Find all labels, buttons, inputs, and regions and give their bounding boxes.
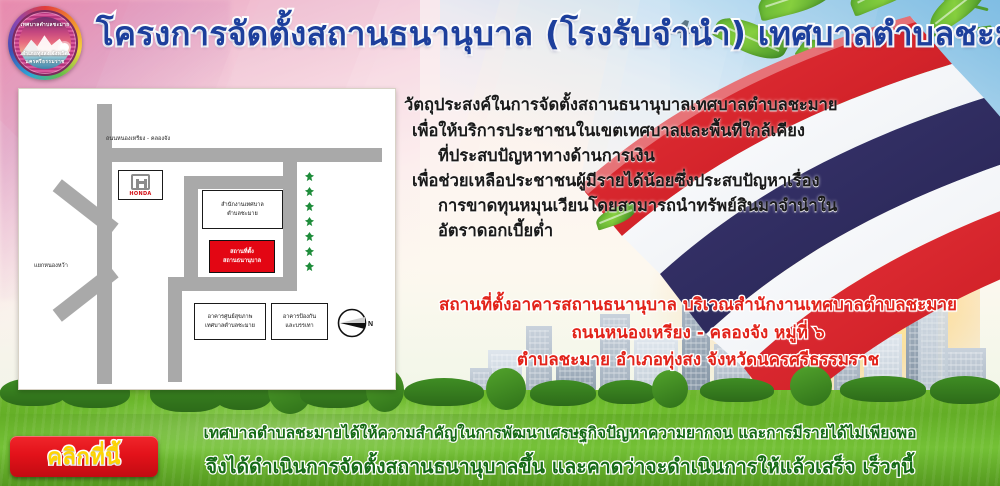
location-map-panel: ถนนหนองเหรียง - คลองจัง แยกหนองหว้า HOND… xyxy=(18,88,396,390)
objective-item-1-line2: ที่ประสบปัญหาทางด้านการเงิน xyxy=(404,143,874,168)
tree-icon xyxy=(304,217,315,228)
road-name-label: ถนนหนองเหรียง - คลองจัง xyxy=(106,135,170,143)
click-here-label: คลิกที่นี้ xyxy=(47,439,121,474)
emblem-text-top: เทศบาลตำบลชะมาย xyxy=(14,21,76,29)
tree-icon xyxy=(304,232,315,243)
bush xyxy=(530,380,596,406)
map-box-line1: สถานที่ตั้ง xyxy=(230,248,254,256)
compass-north-label: N xyxy=(368,321,373,328)
bush xyxy=(404,378,484,406)
objective-item-2-line2: การขาดทุนหมุนเวียนโดยสามารถนำทรัพย์สินมา… xyxy=(404,193,874,218)
junction-label: แยกหนองหว้า xyxy=(34,262,68,270)
click-here-button[interactable]: คลิกที่นี้ xyxy=(10,436,158,477)
map-box-line2: และบรรเทา xyxy=(285,322,313,330)
road-vertical-main xyxy=(97,104,112,384)
honda-dealership-box: HONDA xyxy=(118,170,163,200)
objective-item-1-line1: เพื่อให้บริการประชาชนในเขตเทศบาลและพื้นท… xyxy=(404,118,874,143)
objective-item-2-line1: เพื่อช่วยเหลือประชาชนผู้มีรายได้น้อยซึ่ง… xyxy=(404,168,874,193)
municipality-seal-emblem: เทศบาลตำบลชะมาย อำเภอทุ่งสง จังหวัดนครศร… xyxy=(8,6,82,80)
objectives-block: วัตถุประสงค์ในการจัดตั้งสถานธนานุบาลเทศบ… xyxy=(404,92,874,243)
map-box-line1: อาคารป้องกัน xyxy=(283,313,316,321)
header-bar: เทศบาลตำบลชะมาย อำเภอทุ่งสง จังหวัดนครศร… xyxy=(0,0,1000,84)
map-box-line2: สถานธนานุบาล xyxy=(223,257,261,265)
road-vertical-lower xyxy=(168,277,182,382)
honda-brand-label: HONDA xyxy=(129,191,151,197)
map-box-line2: เทศบาลตำบลชะมาย xyxy=(205,322,255,330)
road-horizontal-inner xyxy=(184,176,284,189)
map-box-line1: สำนักงานเทศบาล xyxy=(221,201,264,209)
tree-icon xyxy=(304,187,315,198)
honda-logo-icon xyxy=(131,174,150,190)
map-box-municipal-office: สำนักงานเทศบาล ตำบลชะมาย xyxy=(202,190,283,229)
tree-icon xyxy=(304,262,315,273)
tree xyxy=(652,370,688,408)
tree-icon xyxy=(304,172,315,183)
bush xyxy=(840,376,926,402)
objective-item-2-line3: อัตราดอกเบี้ยต่ำ xyxy=(404,218,874,243)
road-horizontal-mid xyxy=(168,277,297,291)
map-box-disaster-building: อาคารป้องกัน และบรรเทา xyxy=(271,303,328,340)
tree-icon-column xyxy=(304,172,322,272)
location-line-3: ตำบลชะมาย อำเภอทุ่งสง จังหวัดนครศรีธรรมร… xyxy=(398,347,998,375)
footer-line-1: เทศบาลตำบลชะมายได้ให้ความสำคัญในการพัฒนา… xyxy=(120,423,1000,444)
bush xyxy=(930,376,1000,404)
location-line-1: สถานที่ตั้งอาคารสถานธนานุบาล บริเวณสำนัก… xyxy=(398,292,998,320)
objectives-heading: วัตถุประสงค์ในการจัดตั้งสถานธนานุบาลเทศบ… xyxy=(404,92,874,117)
footer-block: เทศบาลตำบลชะมายได้ให้ความสำคัญในการพัฒนา… xyxy=(120,423,1000,480)
page-title: โครงการจัดตั้งสถานธนานุบาล (โรงรับจำนำ) … xyxy=(96,14,996,54)
bush xyxy=(700,378,774,402)
location-line-2: ถนนหนองเหรียง - คลองจัง หมู่ที่ ๖ xyxy=(398,320,998,348)
banner-root: เทศบาลตำบลชะมาย อำเภอทุ่งสง จังหวัดนครศร… xyxy=(0,0,1000,486)
map-box-line1: อาคารศูนย์สุขภาพ xyxy=(208,313,253,321)
map-box-line2: ตำบลชะมาย xyxy=(227,210,258,218)
road-vertical-inner xyxy=(184,176,198,290)
map-canvas: ถนนหนองเหรียง - คลองจัง แยกหนองหว้า HOND… xyxy=(24,94,390,384)
tree-icon xyxy=(304,202,315,213)
map-box-health-center: อาคารศูนย์สุขภาพ เทศบาลตำบลชะมาย xyxy=(194,303,266,340)
road-horizontal-top xyxy=(97,148,382,162)
bush xyxy=(598,380,656,404)
road-vertical-right xyxy=(283,148,297,290)
compass-rose-icon: N xyxy=(336,306,370,340)
footer-line-2: จึงได้ดำเนินการจัดตั้งสถานธนานุบาลขึ้น แ… xyxy=(120,454,1000,480)
map-box-pawnshop-site: สถานที่ตั้ง สถานธนานุบาล xyxy=(209,240,275,273)
emblem-text-bottom: อำเภอทุ่งสง จังหวัดนครศรีธรรมราช xyxy=(14,50,76,66)
location-block: สถานที่ตั้งอาคารสถานธนานุบาล บริเวณสำนัก… xyxy=(398,292,998,375)
tree-icon xyxy=(304,247,315,258)
